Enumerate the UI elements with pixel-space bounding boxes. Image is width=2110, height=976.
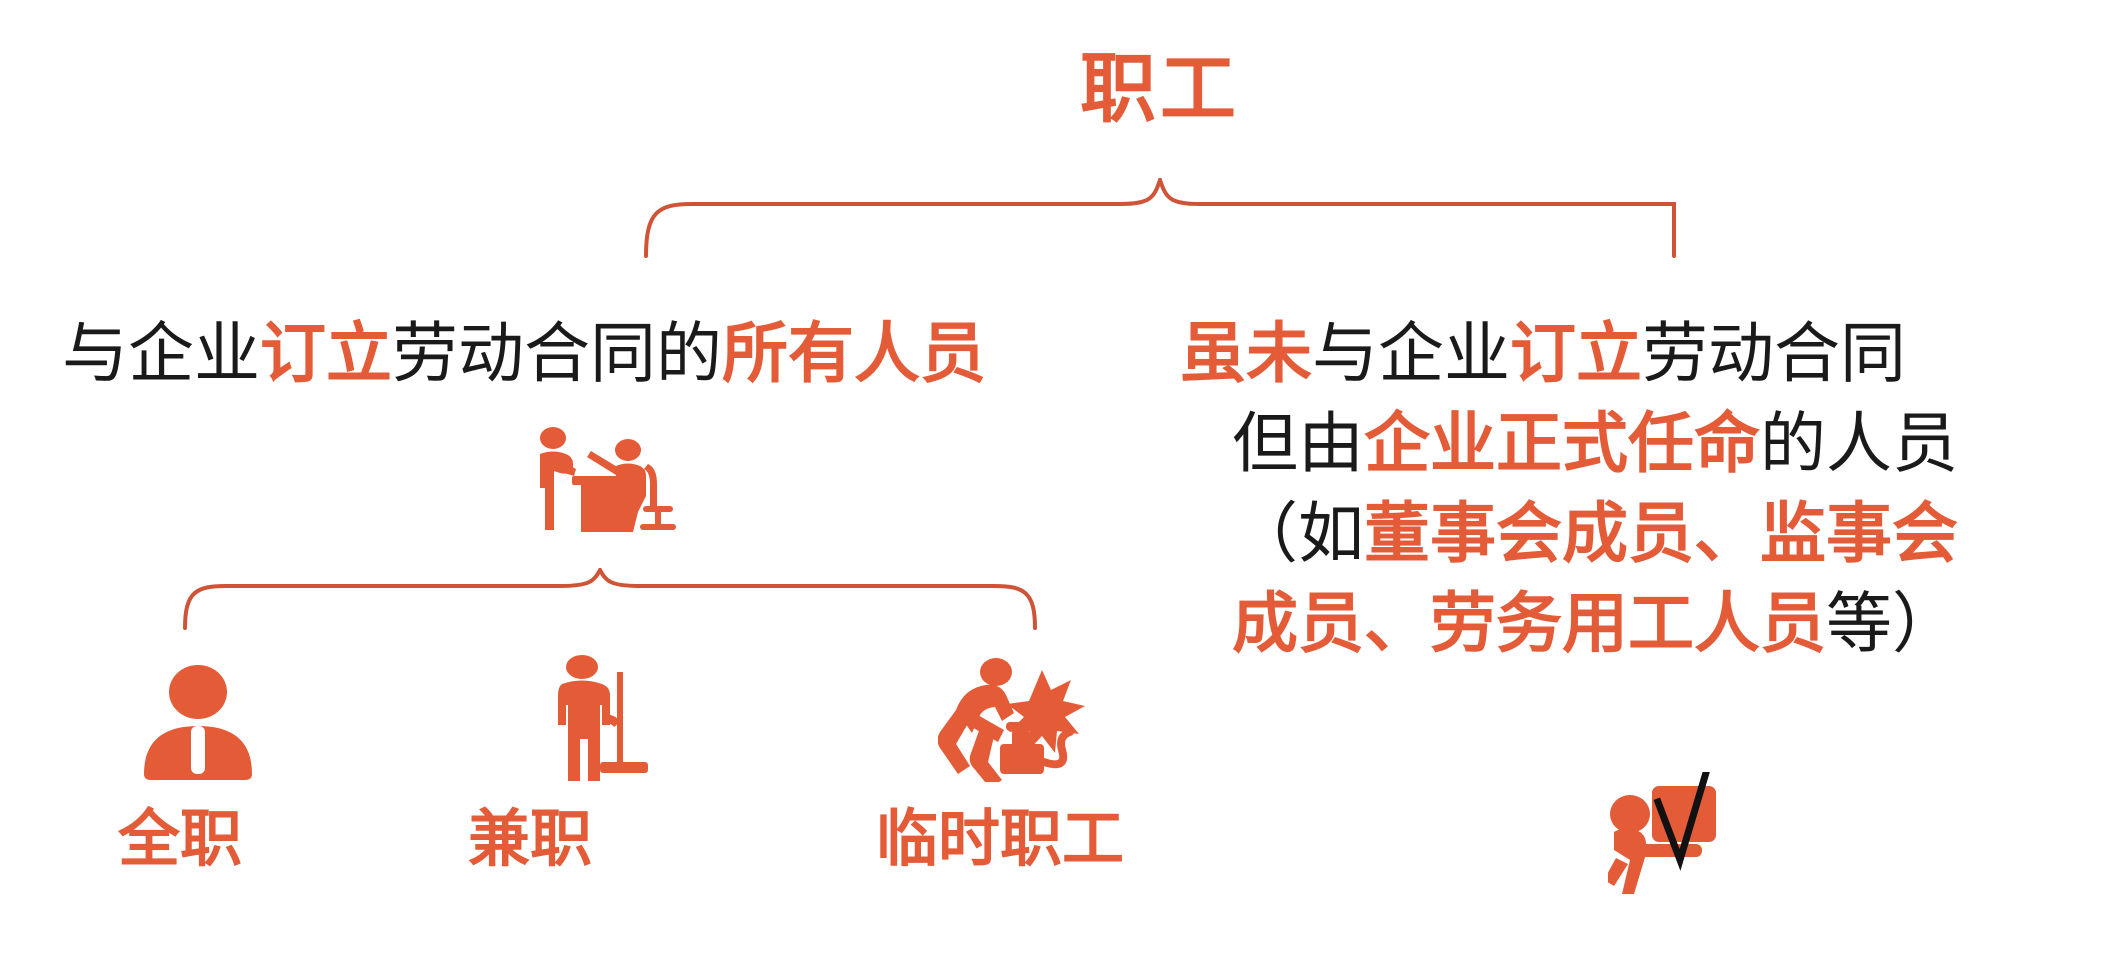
category-label-temporary: 临时职工 bbox=[790, 788, 1210, 878]
person-broom-icon bbox=[538, 654, 656, 782]
right-line-4: 成员、劳务用工人员等） bbox=[1180, 588, 2010, 662]
right-branch-text: 虽未与企业订立劳动合同 但由企业正式任命的人员 （如董事会成员、监事会 成员、劳… bbox=[1180, 318, 2010, 678]
person-tie-icon bbox=[138, 664, 258, 780]
category-label-parttime: 兼职 bbox=[320, 788, 740, 878]
brace-top-connector bbox=[640, 178, 1680, 258]
diagram-canvas: 职工 与企业订立劳动合同的所有人员 虽未与企业订立劳动合同 但由企业正式任命的人… bbox=[0, 0, 2110, 976]
right-l2-seg-1: 企业正式任命 bbox=[1364, 408, 1760, 481]
right-l3-seg-1: 董事会成员、监事会 bbox=[1364, 498, 1958, 571]
right-l4-seg-0: 成员、劳务用工人员 bbox=[1232, 588, 1826, 661]
left-branch-text: 与企业订立劳动合同的所有人员 bbox=[62, 318, 986, 392]
right-l1-seg-0: 虽未 bbox=[1180, 318, 1312, 391]
brace-lower-connector bbox=[180, 568, 1040, 630]
interview-desk-icon bbox=[528, 424, 680, 532]
worker-detonator-icon bbox=[938, 656, 1086, 782]
right-l3-seg-0: （如 bbox=[1232, 498, 1364, 571]
right-l2-seg-0: 但由 bbox=[1232, 408, 1364, 481]
left-seg-0: 与企业 bbox=[62, 318, 260, 391]
right-l1-seg-1: 与企业 bbox=[1312, 318, 1510, 391]
left-seg-2: 劳动合同的 bbox=[392, 318, 722, 391]
right-l1-seg-3: 劳动合同 bbox=[1642, 318, 1906, 391]
right-line-2: 但由企业正式任命的人员 bbox=[1180, 408, 2010, 482]
category-label-fulltime: 全职 bbox=[40, 788, 320, 878]
right-line-1: 虽未与企业订立劳动合同 bbox=[1180, 318, 2010, 392]
page-title-text: 职工 bbox=[1080, 48, 1240, 132]
left-seg-3: 所有人员 bbox=[722, 318, 986, 391]
right-l2-seg-2: 的人员 bbox=[1760, 408, 1958, 481]
right-l4-seg-1: 等） bbox=[1826, 588, 1958, 661]
page-title: 职工 bbox=[0, 52, 2110, 128]
right-l1-seg-2: 订立 bbox=[1510, 318, 1642, 391]
person-checkbox-icon bbox=[1608, 772, 1736, 898]
left-seg-1: 订立 bbox=[260, 318, 392, 391]
right-line-3: （如董事会成员、监事会 bbox=[1180, 498, 2010, 572]
